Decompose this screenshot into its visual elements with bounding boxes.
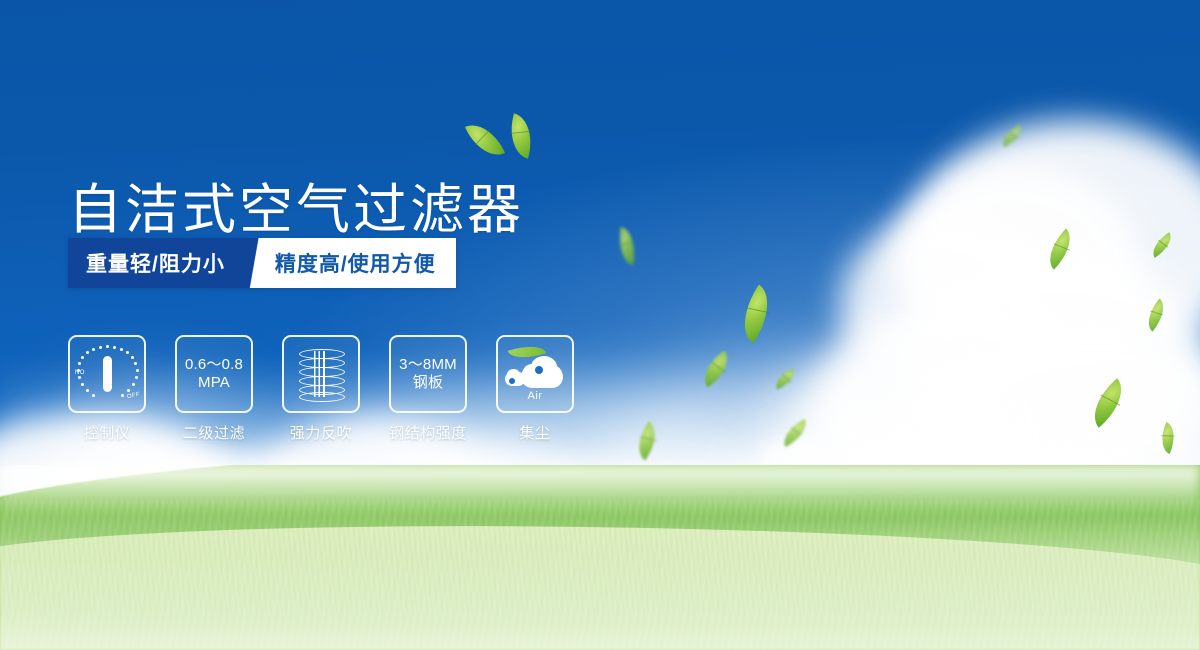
feature-label: 强力反吹	[290, 422, 352, 443]
feature-label: 控制仪	[84, 422, 131, 443]
tagline-bar: 重量轻/阻力小 精度高/使用方便	[68, 238, 456, 288]
grass-field	[0, 465, 1200, 650]
air-cloud-icon: Air	[505, 350, 565, 398]
leaf-icon	[465, 116, 505, 163]
steel-value-line1: 3～8MM	[399, 356, 457, 374]
tag-secondary: 精度高/使用方便	[271, 238, 456, 288]
feature-label: 二级过滤	[183, 422, 245, 443]
sprout-decoration	[470, 112, 542, 166]
feature-icon-box: 3～8MM 钢板	[389, 335, 467, 413]
feature-label: 钢结构强度	[389, 422, 467, 443]
grass-top-fade	[0, 465, 1200, 511]
dial-off-label: OFF	[126, 392, 140, 401]
dial-pointer	[103, 356, 112, 392]
hero-banner: 自洁式空气过滤器 重量轻/阻力小 精度高/使用方便 NO OFF	[0, 0, 1200, 650]
spiral-blow-icon	[299, 349, 343, 399]
cloud-notch	[509, 378, 515, 384]
feature-icon-box	[282, 335, 360, 413]
feature-list: NO OFF	[68, 335, 574, 443]
cloud-notch	[535, 366, 543, 374]
control-dial-icon: NO OFF	[77, 344, 137, 404]
feature-item-controller[interactable]: NO OFF	[68, 335, 146, 443]
feature-item-steel-strength[interactable]: 3～8MM 钢板 钢结构强度	[389, 335, 467, 443]
feature-icon-box: 0.6～0.8 MPA	[175, 335, 253, 413]
steel-value-line2: 钢板	[413, 374, 443, 392]
feature-item-dust-collection[interactable]: Air 集尘	[496, 335, 574, 443]
leaf-icon	[503, 113, 539, 159]
feature-icon-box: Air	[496, 335, 574, 413]
feature-icon-box: NO OFF	[68, 335, 146, 413]
pressure-value-line1: 0.6～0.8	[185, 356, 243, 374]
air-caption: Air	[505, 390, 565, 402]
tag-separator	[245, 238, 271, 288]
feature-label: 集尘	[519, 422, 550, 443]
grass-sheen	[0, 500, 1200, 650]
pressure-value-line2: MPA	[198, 374, 230, 392]
feature-item-two-stage-filter[interactable]: 0.6～0.8 MPA 二级过滤	[175, 335, 253, 443]
feature-item-back-blow[interactable]: 强力反吹	[282, 335, 360, 443]
tag-primary: 重量轻/阻力小	[68, 238, 245, 288]
page-title: 自洁式空气过滤器	[68, 183, 524, 237]
